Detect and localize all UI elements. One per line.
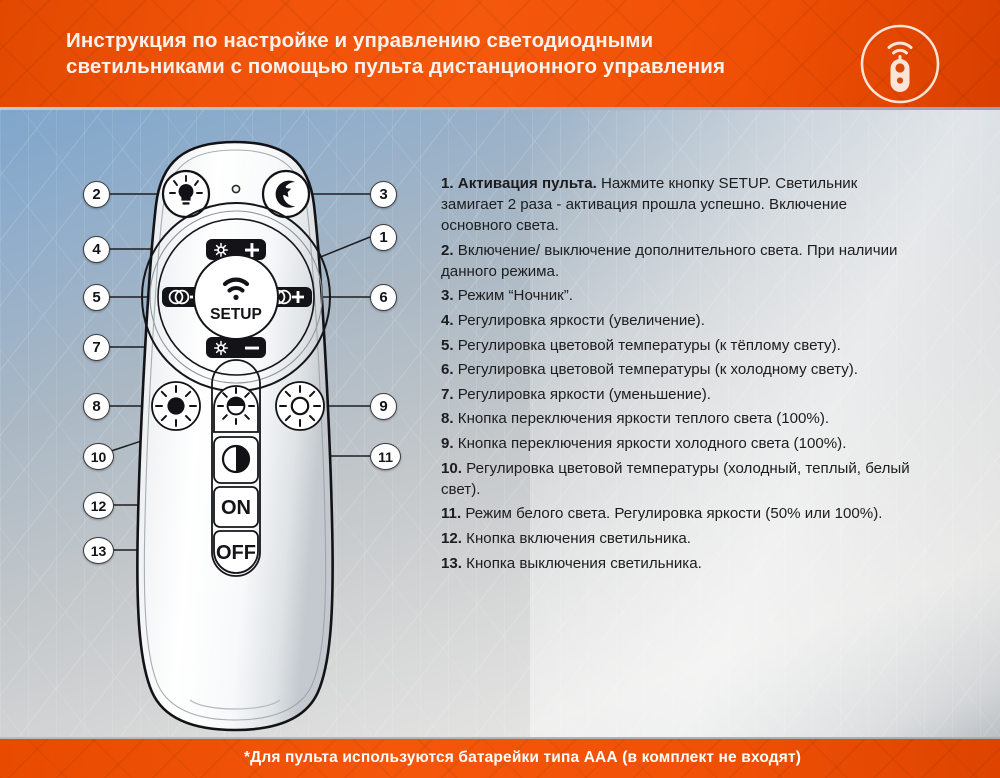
instruction-text: Регулировка яркости (увеличение). [454,312,705,329]
instruction-number: 8. [441,410,454,427]
instruction-number: 11. [441,505,461,522]
callout-9[interactable]: 9 [370,393,397,420]
instruction-number: 5. [441,337,454,354]
instruction-heading: Активация пульта. [458,175,597,192]
instruction-number: 2. [441,242,454,259]
instruction-text: Кнопка переключения яркости холодного св… [454,435,847,452]
instruction-text: Режим “Ночник”. [454,287,573,304]
instruction-text: Кнопка выключения светильника. [462,555,702,572]
callout-10[interactable]: 10 [83,443,114,470]
callout-8[interactable]: 8 [83,393,110,420]
instruction-text: Режим белого света. Регулировка яркости … [461,505,882,522]
instruction-number: 3. [441,287,454,304]
instruction-number: 12. [441,530,462,547]
instruction-item-12: 12. Кнопка включения светильника. [441,528,915,549]
callout-1[interactable]: 1 [370,224,397,251]
instruction-text: Кнопка включения светильника. [462,530,691,547]
callout-11[interactable]: 11 [370,443,401,470]
instruction-item-10: 10. Регулировка цветовой температуры (хо… [441,458,915,500]
page-title: Инструкция по настройке и управлению све… [66,28,806,80]
callout-13[interactable]: 13 [83,537,114,564]
page-footer: *Для пульта используются батарейки типа … [0,737,1000,778]
callout-5[interactable]: 5 [83,284,110,311]
instruction-text: Включение/ выключение дополнительного св… [441,242,897,280]
instruction-item-8: 8. Кнопка переключения яркости теплого с… [441,408,915,429]
instruction-item-3: 3. Режим “Ночник”. [441,285,915,306]
instruction-text: Регулировка цветовой температуры (к тёпл… [454,337,841,354]
instruction-text: Регулировка яркости (уменьшение). [454,386,711,403]
callout-2[interactable]: 2 [83,181,110,208]
instruction-number: 6. [441,361,454,378]
instruction-item-5: 5. Регулировка цветовой температуры (к т… [441,335,915,356]
instruction-number: 9. [441,435,454,452]
instruction-item-1: 1. Активация пульта. Нажмите кнопку SETU… [441,173,915,236]
callout-7[interactable]: 7 [83,334,110,361]
instruction-item-4: 4. Регулировка яркости (увеличение). [441,310,915,331]
instruction-item-2: 2. Включение/ выключение дополнительного… [441,240,915,282]
callout-4[interactable]: 4 [83,236,110,263]
page-header: Инструкция по настройке и управлению све… [0,0,1000,110]
instruction-item-7: 7. Регулировка яркости (уменьшение). [441,384,915,405]
instruction-item-11: 11. Режим белого света. Регулировка ярко… [441,503,915,524]
callout-6[interactable]: 6 [370,284,397,311]
instruction-item-13: 13. Кнопка выключения светильника. [441,553,915,574]
battery-note: *Для пульта используются батарейки типа … [0,737,1000,778]
instruction-text: Регулировка цветовой температуры (холодн… [441,460,910,498]
instruction-number: 1. [441,175,454,192]
instruction-list: 1. Активация пульта. Нажмите кнопку SETU… [441,173,915,577]
instruction-number: 4. [441,312,454,329]
instruction-text: Кнопка переключения яркости теплого свет… [454,410,829,427]
instruction-item-6: 6. Регулировка цветовой температуры (к х… [441,359,915,380]
instruction-number: 7. [441,386,454,403]
instruction-item-9: 9. Кнопка переключения яркости холодного… [441,433,915,454]
instruction-number: 10. [441,460,462,477]
callout-12[interactable]: 12 [83,492,114,519]
instruction-text: Регулировка цветовой температуры (к холо… [454,361,858,378]
instruction-number: 13. [441,555,462,572]
callout-3[interactable]: 3 [370,181,397,208]
remote-control-signal-icon [858,22,942,106]
infographic-page: Инструкция по настройке и управлению све… [0,0,1000,778]
